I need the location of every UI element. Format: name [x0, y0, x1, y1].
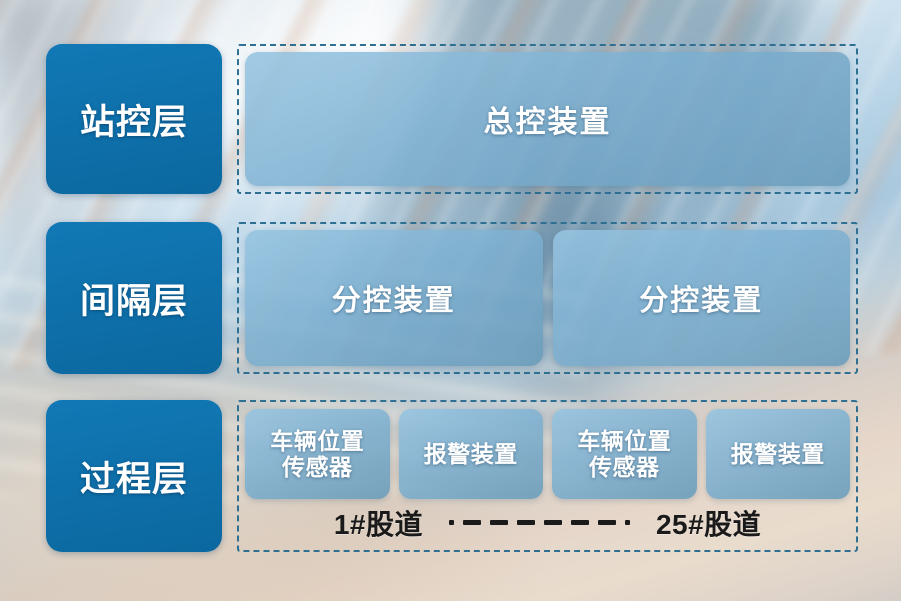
device-box-vehicle-position-sensor-2: 车辆位置 传感器 — [552, 409, 697, 499]
device-label: 报警装置 — [731, 441, 825, 467]
process-device-row: 车辆位置 传感器 报警装置 车辆位置 传感器 报警装置 — [245, 409, 850, 499]
layer-label-text: 间隔层 — [80, 273, 188, 324]
track-dash — [625, 520, 630, 525]
track-caption-row: 1#股道 25#股道 — [245, 499, 850, 546]
device-label-line2: 传感器 — [577, 454, 671, 480]
device-box-master-control: 总控装置 — [245, 52, 850, 186]
layer-label-text: 过程层 — [80, 451, 188, 502]
track-dash — [449, 520, 454, 525]
layer-zone-station-control: 总控装置 — [237, 44, 858, 194]
device-box-alarm-device-2: 报警装置 — [706, 409, 851, 499]
track-dash — [544, 520, 562, 525]
diagram-canvas: 站控层 间隔层 过程层 总控装置 分控装置 分控装置 车辆位置 传感器 — [0, 0, 901, 601]
layer-label-station-control: 站控层 — [46, 44, 222, 194]
device-box-sub-control-1: 分控装置 — [245, 230, 543, 366]
track-dash — [598, 520, 616, 525]
track-dash — [490, 520, 508, 525]
layer-zone-bay: 分控装置 分控装置 — [237, 222, 858, 374]
layer-label-bay: 间隔层 — [46, 222, 222, 374]
device-label-line1: 车辆位置 — [577, 428, 671, 454]
device-label: 车辆位置 传感器 — [270, 428, 364, 480]
device-box-sub-control-2: 分控装置 — [553, 230, 851, 366]
track-label-first: 1#股道 — [334, 503, 423, 543]
device-label: 分控装置 — [639, 277, 763, 319]
device-label-line1: 车辆位置 — [270, 428, 364, 454]
track-dash — [463, 520, 481, 525]
layer-label-text: 站控层 — [80, 94, 188, 145]
device-label: 总控装置 — [484, 97, 612, 141]
device-box-vehicle-position-sensor-1: 车辆位置 传感器 — [245, 409, 390, 499]
layer-label-process: 过程层 — [46, 400, 222, 552]
track-dash — [517, 520, 535, 525]
device-label: 车辆位置 传感器 — [577, 428, 671, 480]
device-label: 报警装置 — [424, 441, 518, 467]
track-label-last: 25#股道 — [656, 503, 761, 543]
device-label-line2: 传感器 — [270, 454, 364, 480]
layer-zone-process: 车辆位置 传感器 报警装置 车辆位置 传感器 报警装置 1#股道 25#股道 — [237, 400, 858, 552]
track-dash — [571, 520, 589, 525]
track-ellipsis-dashes — [449, 520, 630, 525]
device-box-alarm-device-1: 报警装置 — [399, 409, 544, 499]
device-label: 分控装置 — [332, 277, 456, 319]
